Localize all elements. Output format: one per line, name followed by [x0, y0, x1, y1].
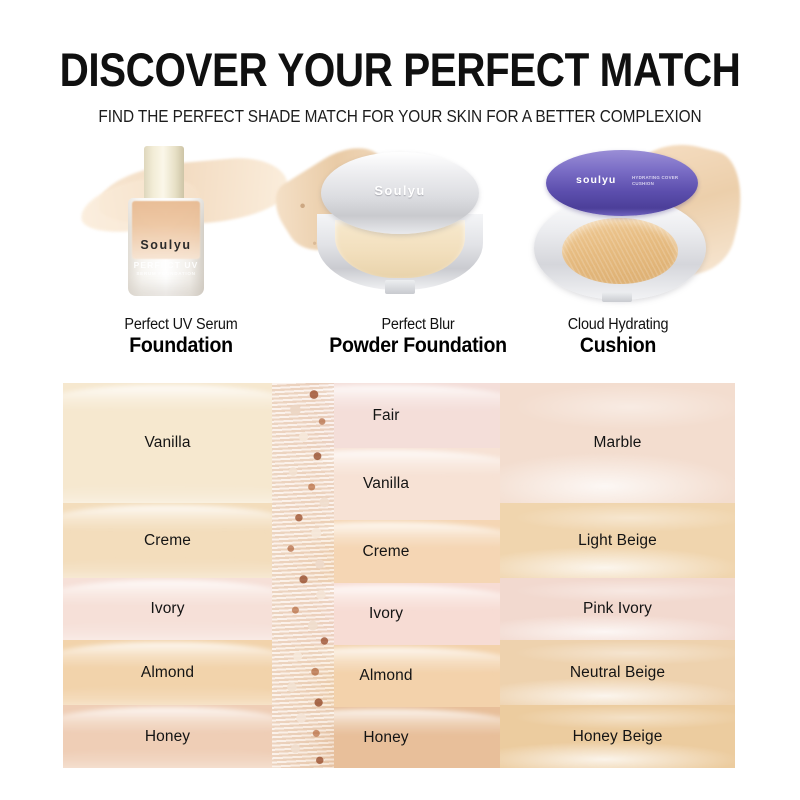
shade-name-label: Honey: [272, 729, 500, 747]
cushion-artwork: soulyu HYDRATING COVER CUSHION: [500, 140, 746, 315]
shade-swatch[interactable]: Honey Beige: [500, 705, 735, 768]
shade-name-label: Creme: [272, 543, 500, 561]
page-title: DISCOVER YOUR PERFECT MATCH: [56, 46, 744, 93]
swatch-gloss-lower-icon: [63, 558, 272, 578]
swatch-gloss-lower-icon: [63, 483, 272, 503]
infographic-page: DISCOVER YOUR PERFECT MATCH FIND THE PER…: [0, 0, 800, 800]
shade-name-label: Vanilla: [272, 475, 500, 493]
cushion-latch-icon: [602, 292, 632, 302]
cushion-lid-icon: soulyu HYDRATING COVER CUSHION: [546, 150, 698, 216]
shade-name-label: Honey: [63, 728, 272, 746]
shade-column-cloud-hydrating-cushion: MarbleLight BeigePink IvoryNeutral Beige…: [500, 383, 735, 768]
page-subtitle: FIND THE PERFECT SHADE MATCH FOR YOUR SK…: [48, 106, 752, 127]
swatch-gloss-highlight-icon: [63, 505, 272, 531]
shade-name-label: Ivory: [63, 600, 272, 618]
product-image-perfect-uv-serum-foundation[interactable]: Soulyu PERFECT UV SERUM FOUNDATION: [58, 140, 304, 315]
shade-swatch[interactable]: Honey: [63, 705, 272, 768]
shade-swatch[interactable]: Marble: [500, 383, 735, 503]
bottle-product-sub-label: SERUM FOUNDATION: [128, 271, 204, 276]
serum-foundation-artwork: Soulyu PERFECT UV SERUM FOUNDATION: [58, 140, 304, 315]
bottle-body-icon: Soulyu PERFECT UV SERUM FOUNDATION: [128, 198, 204, 296]
powder-crumb-cluster-icon: [278, 383, 336, 768]
shade-name-label: Almond: [63, 664, 272, 682]
swatch-gloss-lower-icon: [63, 620, 272, 640]
shade-swatch[interactable]: Neutral Beige: [500, 640, 735, 705]
compact-brand-label: Soulyu: [321, 183, 479, 198]
product-label-top: Cloud Hydrating: [479, 316, 758, 334]
shade-swatch[interactable]: Ivory: [63, 578, 272, 640]
swatch-gloss-highlight-icon: [63, 385, 272, 411]
shade-name-label: Light Beige: [500, 532, 735, 550]
product-image-cloud-hydrating-cushion[interactable]: soulyu HYDRATING COVER CUSHION: [500, 140, 746, 315]
bottle-cap-icon: [144, 146, 184, 202]
bottle-product-line-label: PERFECT UV: [128, 260, 204, 270]
cushion-brand-label: soulyu: [576, 174, 616, 186]
shade-name-label: Fair: [272, 407, 500, 425]
product-label-cloud-hydrating-cushion: Cloud Hydrating Cushion: [468, 316, 768, 357]
shade-column-perfect-uv-serum-foundation: VanillaCremeIvoryAlmondHoney: [63, 383, 272, 768]
shade-column-perfect-blur-powder-foundation: FairVanillaCremeIvoryAlmondHoney: [272, 383, 500, 768]
product-label-bottom: Cushion: [479, 334, 758, 358]
swatch-gloss-lower-icon: [63, 685, 272, 705]
shade-name-label: Almond: [272, 667, 500, 685]
shade-name-label: Neutral Beige: [500, 664, 735, 682]
shade-name-label: Marble: [500, 434, 735, 452]
bottle-brand-label: Soulyu: [128, 238, 204, 252]
cushion-sub-label: HYDRATING COVER CUSHION: [632, 175, 690, 186]
shade-name-label: Pink Ivory: [500, 600, 735, 618]
shade-name-label: Creme: [63, 532, 272, 550]
shade-swatch[interactable]: Pink Ivory: [500, 578, 735, 640]
shade-swatch[interactable]: Almond: [63, 640, 272, 705]
shade-swatch[interactable]: Creme: [63, 503, 272, 578]
shade-name-label: Honey Beige: [500, 728, 735, 746]
shade-match-grid: VanillaCremeIvoryAlmondHoney FairVanilla…: [63, 383, 735, 768]
shade-swatch[interactable]: Vanilla: [63, 383, 272, 503]
swatch-gloss-lower-icon: [63, 748, 272, 768]
shade-swatch[interactable]: Light Beige: [500, 503, 735, 578]
shade-name-label: Ivory: [272, 605, 500, 623]
compact-latch-icon: [385, 280, 415, 294]
compact-lid-icon: Soulyu: [321, 152, 479, 234]
shade-name-label: Vanilla: [63, 434, 272, 452]
powder-compact-artwork: Soulyu: [277, 140, 523, 315]
cushion-puff-icon: [562, 218, 678, 284]
product-image-perfect-blur-powder-foundation[interactable]: Soulyu: [277, 140, 523, 315]
header: DISCOVER YOUR PERFECT MATCH FIND THE PER…: [0, 46, 800, 127]
